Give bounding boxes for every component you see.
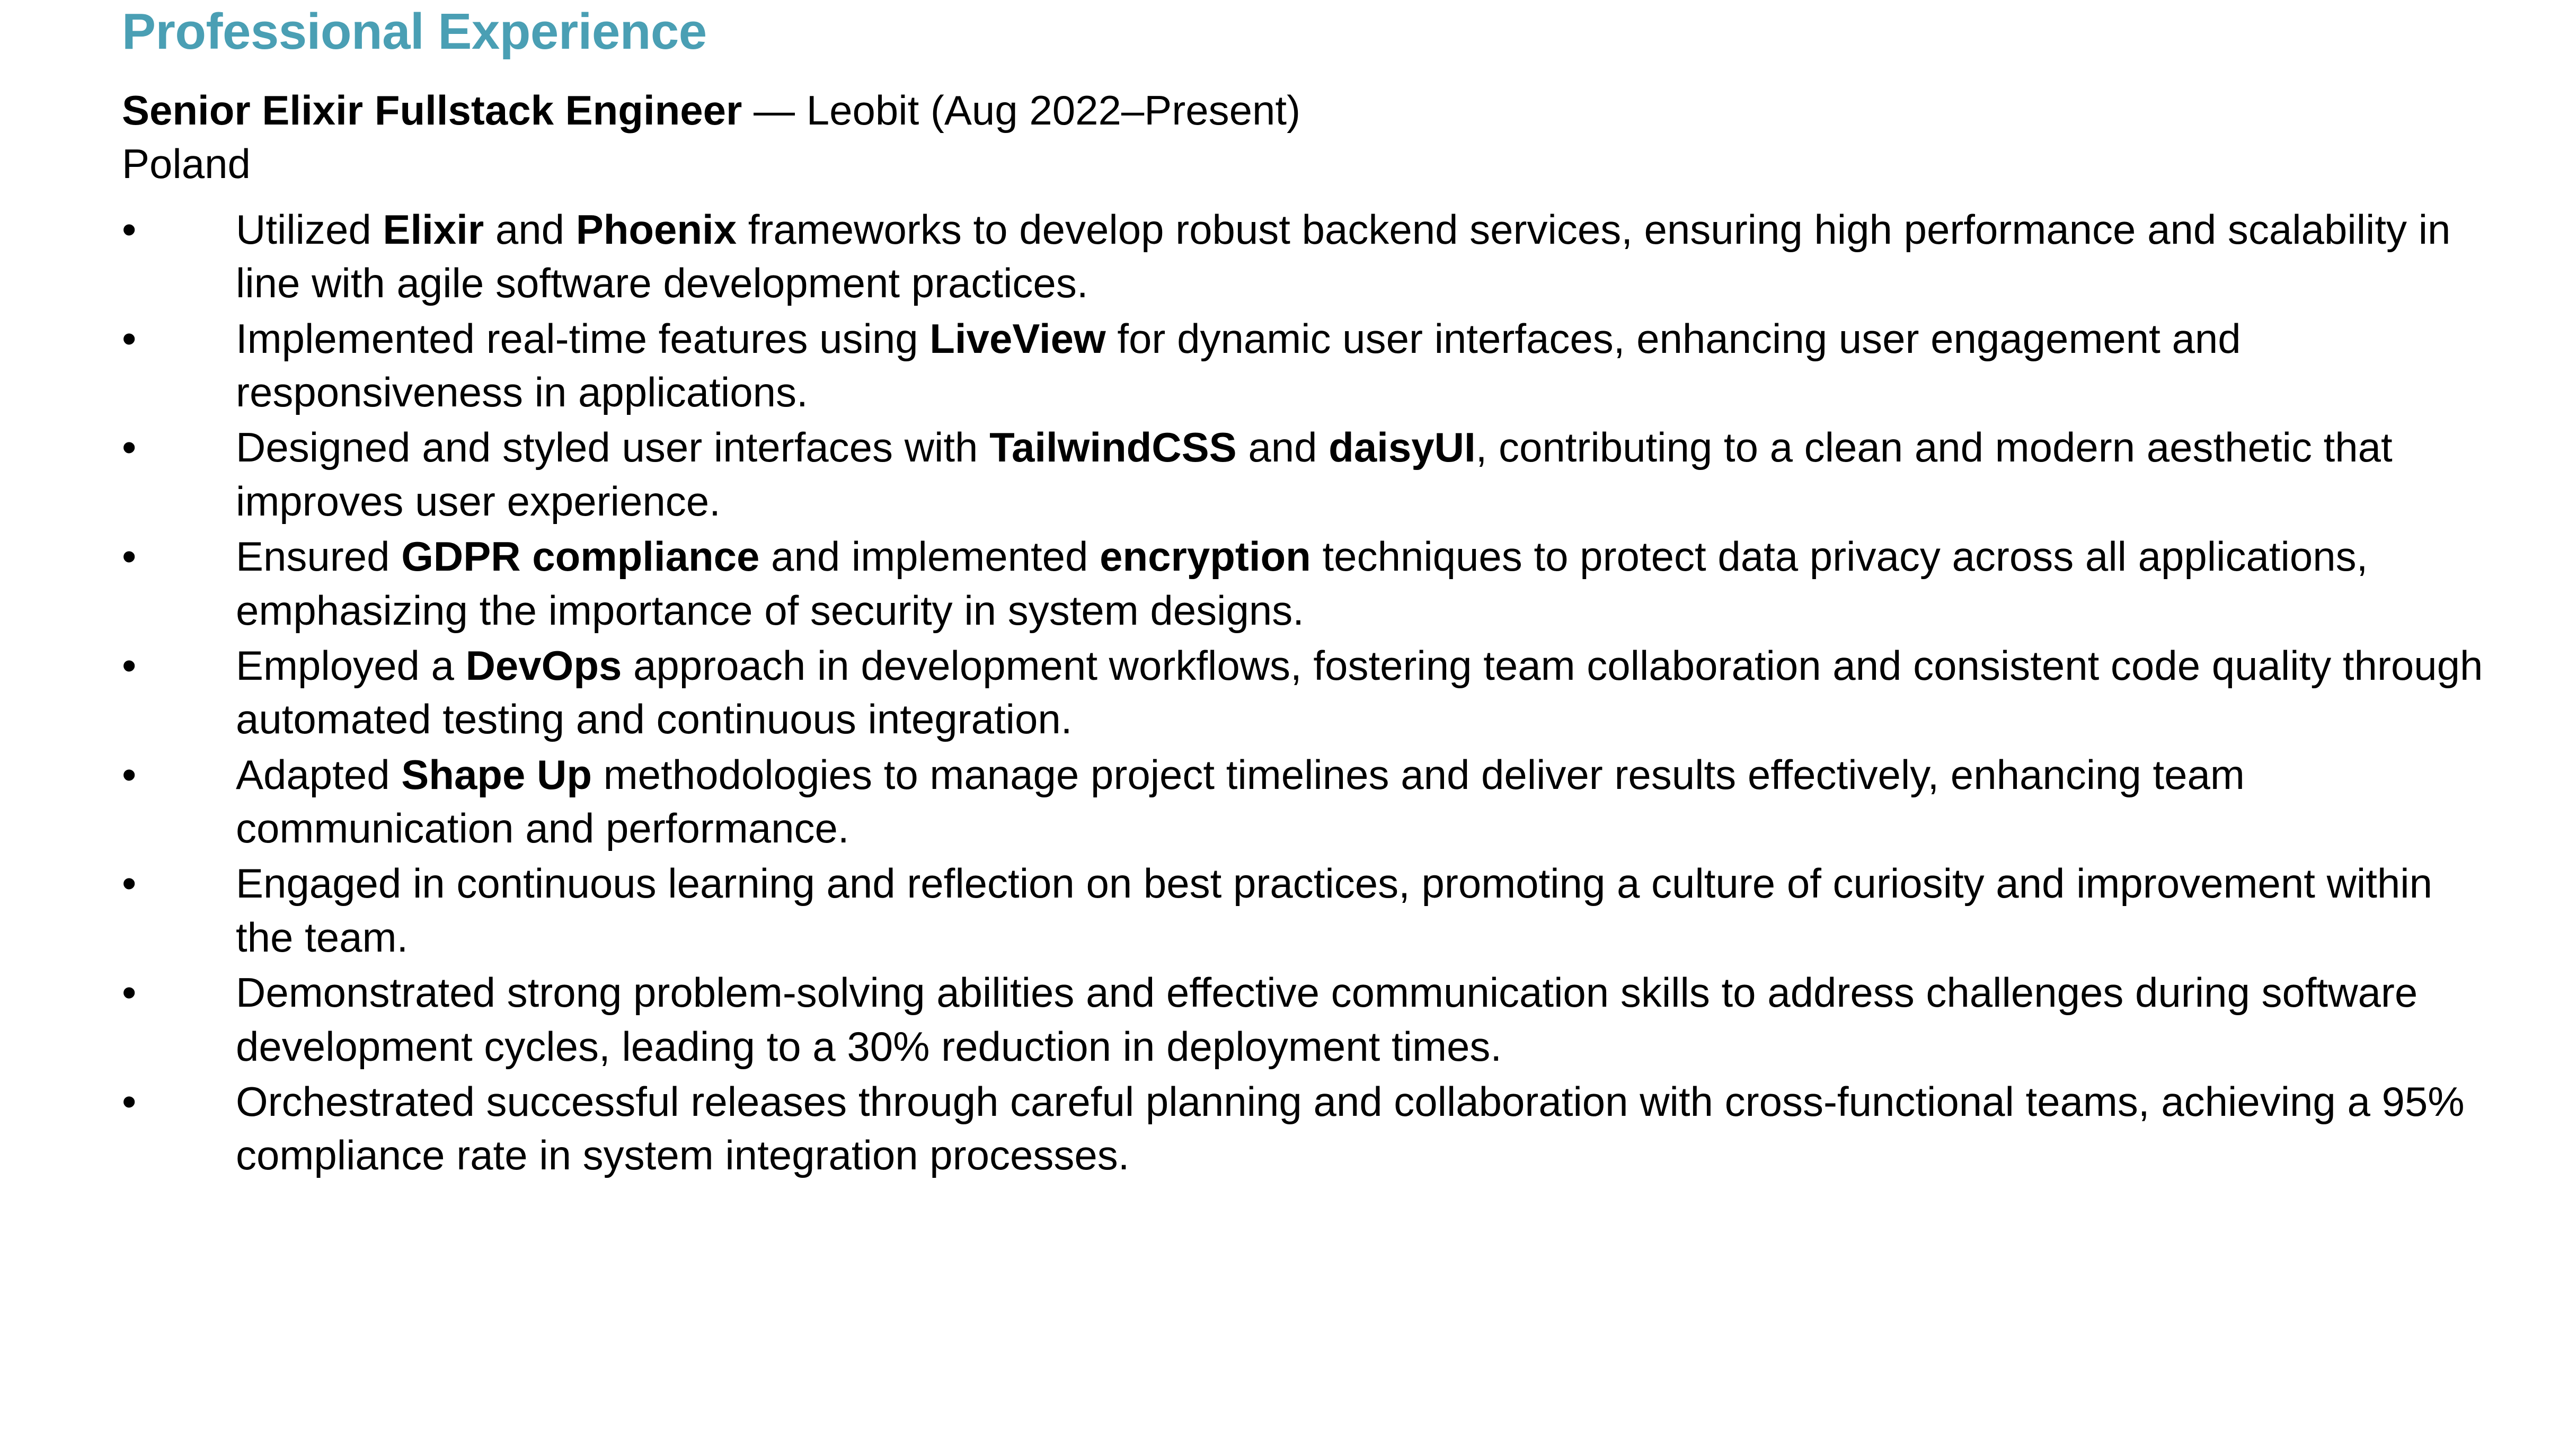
list-item-text: Utilized Elixir and Phoenix frameworks t… bbox=[236, 206, 2450, 306]
list-item-text: Ensured GDPR compliance and implemented … bbox=[236, 533, 2368, 633]
page-title: Professional Experience bbox=[122, 0, 2501, 57]
list-item: •Implemented real-time features using Li… bbox=[122, 312, 2501, 420]
job-role: Senior Elixir Fullstack Engineer bbox=[122, 87, 742, 134]
bullet-dot-icon: • bbox=[122, 639, 143, 693]
bullet-dot-icon: • bbox=[122, 203, 143, 256]
bullet-dot-icon: • bbox=[122, 748, 143, 802]
list-item-text: Engaged in continuous learning and refle… bbox=[236, 860, 2432, 960]
list-item: •Employed a DevOps approach in developme… bbox=[122, 639, 2501, 747]
list-item-text: Employed a DevOps approach in developmen… bbox=[236, 642, 2483, 742]
list-item: •Utilized Elixir and Phoenix frameworks … bbox=[122, 203, 2501, 310]
job-location: Poland bbox=[122, 137, 2501, 191]
bullet-dot-icon: • bbox=[122, 312, 143, 366]
list-item: •Adapted Shape Up methodologies to manag… bbox=[122, 748, 2501, 856]
responsibilities-list: •Utilized Elixir and Phoenix frameworks … bbox=[122, 203, 2501, 1183]
bullet-dot-icon: • bbox=[122, 1075, 143, 1129]
job-company-and-dates: Leobit (Aug 2022–Present) bbox=[807, 87, 1300, 134]
list-item-text: Implemented real-time features using Liv… bbox=[236, 315, 2241, 415]
list-item-text: Designed and styled user interfaces with… bbox=[236, 424, 2393, 524]
job-header: Senior Elixir Fullstack Engineer — Leobi… bbox=[122, 84, 2501, 191]
resume-page: Professional Experience Senior Elixir Fu… bbox=[0, 0, 2568, 1456]
list-item: •Ensured GDPR compliance and implemented… bbox=[122, 530, 2501, 637]
bullet-dot-icon: • bbox=[122, 421, 143, 474]
list-item-text: Orchestrated successful releases through… bbox=[236, 1078, 2465, 1178]
list-item: •Orchestrated successful releases throug… bbox=[122, 1075, 2501, 1183]
job-title-line: Senior Elixir Fullstack Engineer — Leobi… bbox=[122, 84, 2501, 137]
list-item: •Designed and styled user interfaces wit… bbox=[122, 421, 2501, 528]
job-separator: — bbox=[742, 87, 806, 134]
list-item: •Demonstrated strong problem-solving abi… bbox=[122, 966, 2501, 1073]
list-item-text: Demonstrated strong problem-solving abil… bbox=[236, 969, 2418, 1069]
list-item-text: Adapted Shape Up methodologies to manage… bbox=[236, 751, 2245, 851]
bullet-dot-icon: • bbox=[122, 857, 143, 910]
bullet-dot-icon: • bbox=[122, 966, 143, 1019]
bullet-dot-icon: • bbox=[122, 530, 143, 583]
list-item: •Engaged in continuous learning and refl… bbox=[122, 857, 2501, 964]
